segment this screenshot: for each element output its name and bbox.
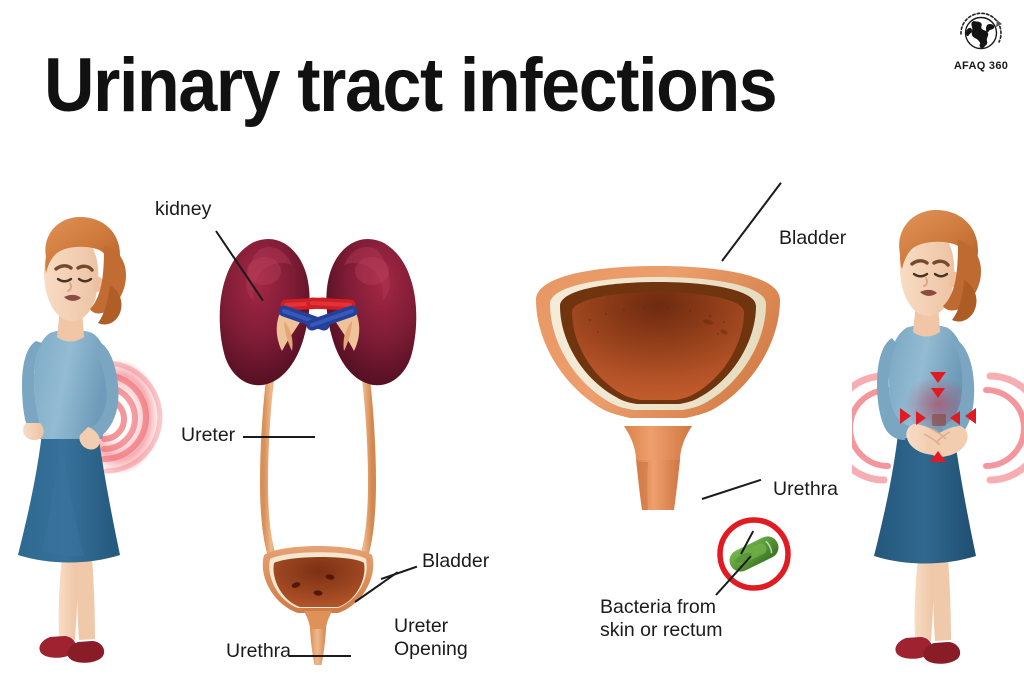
label-urethra-right: Urethra <box>773 478 838 501</box>
label-bacteria-line1: Bacteria from <box>600 596 722 619</box>
leader-line-bladder-right <box>721 182 782 261</box>
label-bacteria: Bacteria from skin or rectum <box>600 596 722 642</box>
urethra-small <box>310 629 326 665</box>
label-bacteria-line2: skin or rectum <box>600 619 722 642</box>
bacterium-icon <box>726 533 782 576</box>
infographic-canvas: Urinary tract infections AFAQ 360 <box>0 0 1024 683</box>
label-ureter-opening: Ureter Opening <box>394 615 468 661</box>
bacteria-illustration <box>712 512 796 601</box>
label-ureter: Ureter <box>181 424 235 447</box>
afaq-360-logo: AFAQ 360 <box>948 6 1014 80</box>
bladder-neck <box>624 426 692 460</box>
leader-line-ureter <box>243 436 315 438</box>
label-kidney: kidney <box>155 198 211 221</box>
globe-icon <box>953 6 1009 62</box>
label-ureter-opening-line2: Opening <box>394 638 468 661</box>
bladder-cross-section <box>528 262 788 517</box>
page-title: Urinary tract infections <box>44 48 776 124</box>
woman-with-abdominal-pain <box>852 198 1024 683</box>
woman-with-flank-pain <box>0 205 175 683</box>
label-ureter-opening-line1: Ureter <box>394 615 468 638</box>
hand-left <box>23 423 44 440</box>
label-urethra-left: Urethra <box>226 640 291 663</box>
label-bladder-right: Bladder <box>779 227 846 250</box>
urinary-tract-diagram <box>178 225 458 670</box>
label-bladder-left: Bladder <box>422 550 489 573</box>
leader-line-urethra-left <box>289 655 351 657</box>
